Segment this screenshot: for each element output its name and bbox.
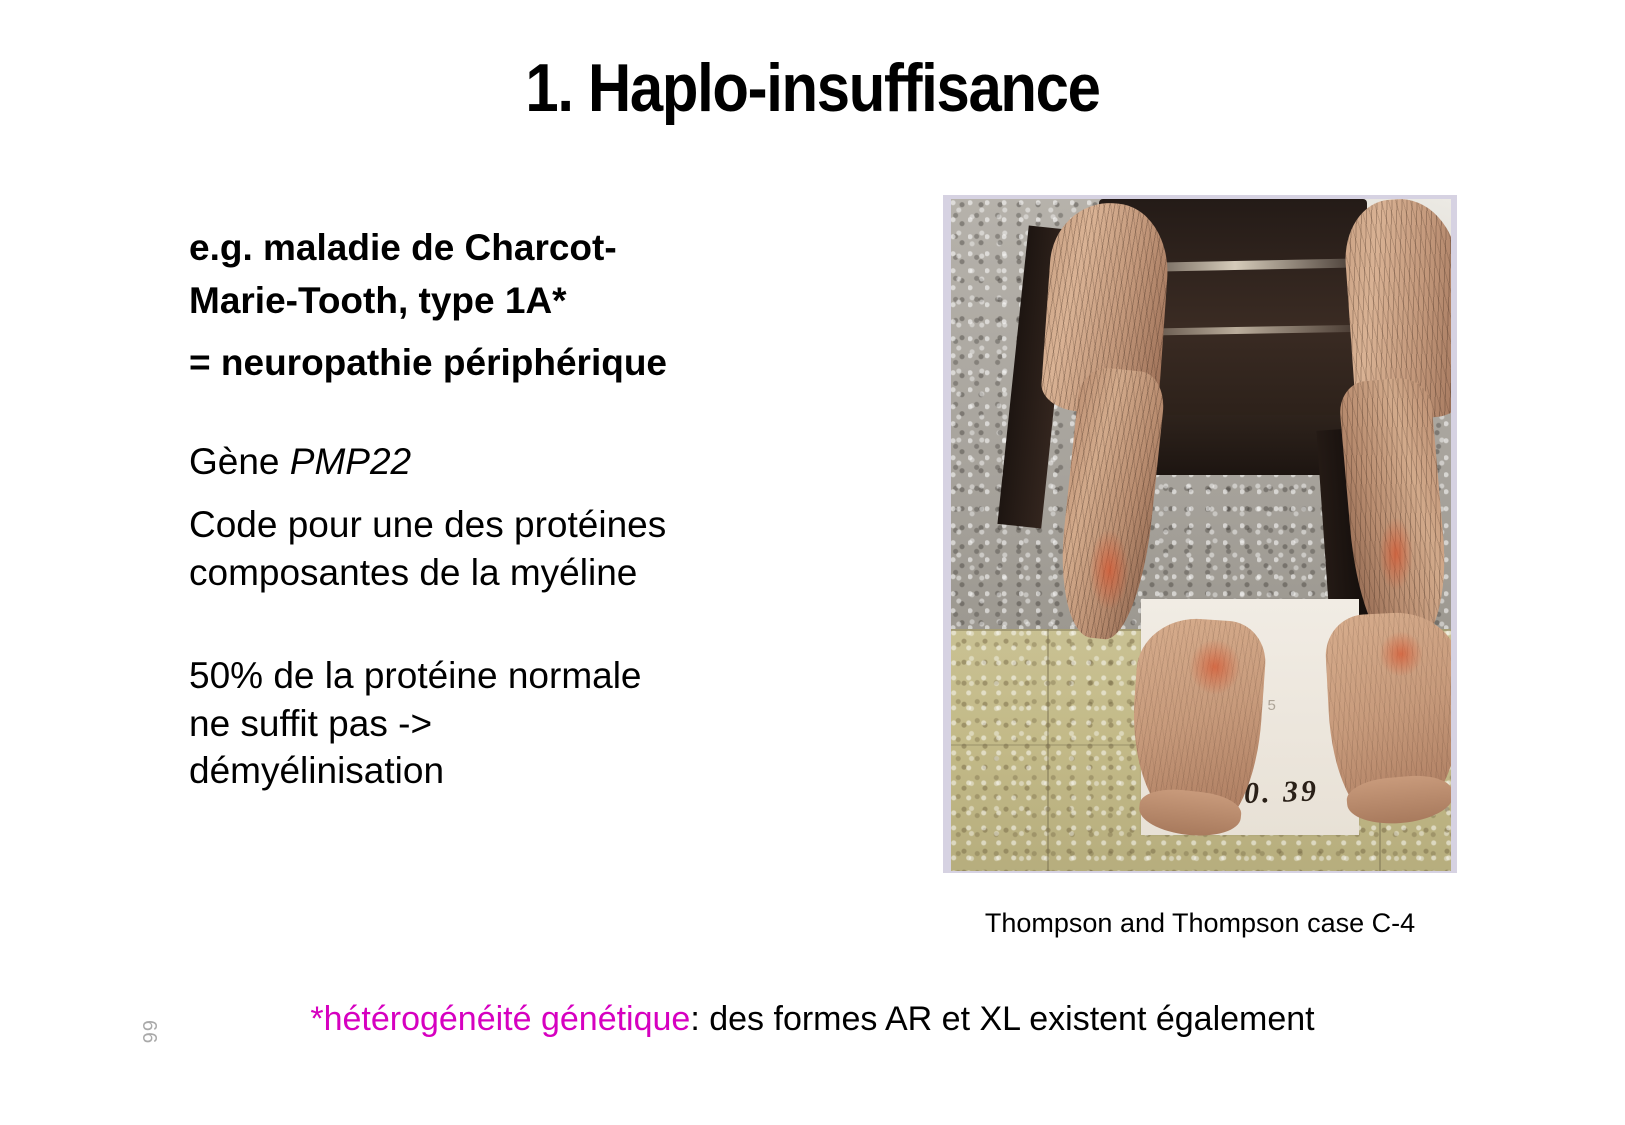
lead-line-3: = neuropathie périphérique [189, 339, 829, 386]
dosage-line-2-text: ne suffit pas -> [189, 703, 432, 744]
photo-caption: Thompson and Thompson case C-4 [943, 908, 1457, 939]
lead-line-1: e.g. maladie de Charcot- [189, 224, 829, 271]
text-column: e.g. maladie de Charcot- Marie-Tooth, ty… [189, 224, 829, 794]
skin-redness-right-ankle [1379, 631, 1423, 677]
lead-line-1-text: e.g. maladie de Charcot- [189, 227, 617, 268]
dosage-line-3: démyélinisation [189, 747, 829, 794]
skin-redness-right-shin [1379, 517, 1413, 591]
footnote-marker: * [310, 1000, 323, 1038]
gene-description-line-2-text: composantes de la myéline [189, 552, 637, 593]
clinical-photo: 3 5 12. 30. 39 [951, 199, 1451, 871]
slide: 1. Haplo-insuffisance e.g. maladie de Ch… [0, 0, 1625, 1125]
clinical-photo-frame: 3 5 12. 30. 39 [943, 195, 1457, 873]
lead-line-3-text: = neuropathie périphérique [189, 342, 667, 383]
lead-line-2-text: Marie-Tooth, type 1A* [189, 280, 567, 321]
skin-redness-left-shin [1089, 529, 1129, 611]
gene-description-line-1: Code pour une des protéines [189, 501, 829, 548]
gene-name: PMP22 [290, 441, 411, 482]
footnote-rest: : des formes AR et XL existent également [690, 1000, 1314, 1038]
floor-seam-vertical-left [1047, 629, 1049, 871]
dosage-line-2: ne suffit pas -> [189, 700, 829, 747]
dosage-line-1-text: 50% de la protéine normale [189, 655, 642, 696]
footnote: *hétérogénéité génétique: des formes AR … [0, 1000, 1625, 1039]
gene-label: Gène [189, 441, 290, 482]
spacer-2 [189, 596, 829, 652]
gene-description-line-2: composantes de la myéline [189, 549, 829, 596]
footnote-highlight: hétérogénéité génétique [324, 1000, 691, 1038]
dosage-line-3-text: démyélinisation [189, 750, 444, 791]
dosage-line-1: 50% de la protéine normale [189, 652, 829, 699]
lead-line-2: Marie-Tooth, type 1A* [189, 277, 829, 324]
skin-redness-left-ankle [1189, 639, 1241, 695]
corner-page-mark: 66 [137, 1020, 160, 1044]
gene-line: Gène PMP22 [189, 438, 829, 485]
page-title: 1. Haplo-insuffisance [98, 52, 1528, 124]
spacer-1 [189, 386, 829, 438]
gene-description-line-1-text: Code pour une des protéines [189, 504, 666, 545]
